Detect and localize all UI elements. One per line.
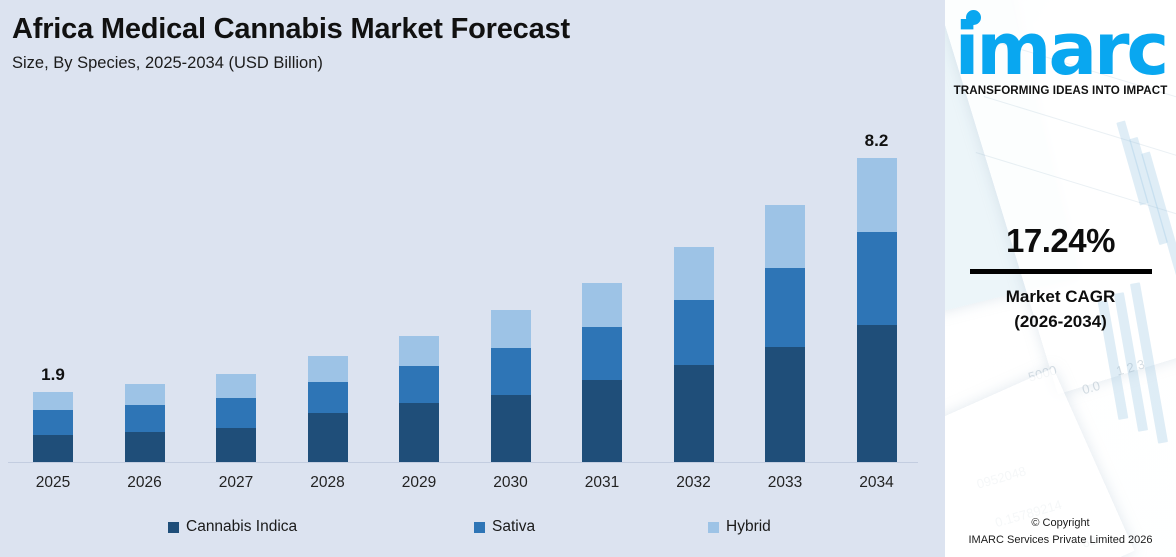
bar-stack-2030 (491, 310, 531, 462)
bar-group-2034[interactable]: 8.2 (857, 158, 897, 462)
imarc-logo[interactable]: imarc TRANSFORMING IDEAS INTO IMPACT (945, 16, 1176, 97)
bar-stack-2033 (765, 205, 805, 462)
bar-segment-cannabis-indica-2034[interactable] (857, 325, 897, 462)
bar-segment-cannabis-indica-2032[interactable] (674, 365, 714, 462)
bar-stack-2029 (399, 336, 439, 462)
bar-segment-cannabis-indica-2031[interactable] (582, 380, 622, 462)
bar-segment-cannabis-indica-2025[interactable] (33, 435, 73, 462)
bar-segment-sativa-2025[interactable] (33, 410, 73, 434)
plot-area: 1.92025202620272028202920302031203220338… (0, 0, 932, 557)
legend-swatch-cannabis-indica (168, 522, 179, 533)
legend-label-hybrid: Hybrid (726, 518, 771, 536)
bar-stack-2025 (33, 392, 73, 462)
bar-segment-cannabis-indica-2026[interactable] (125, 432, 165, 462)
copyright-line-2: IMARC Services Private Limited 2026 (945, 532, 1176, 549)
x-axis-label-2029: 2029 (374, 474, 464, 492)
bar-stack-2026 (125, 384, 165, 462)
bar-group-2032[interactable] (674, 247, 714, 462)
bar-segment-sativa-2031[interactable] (582, 327, 622, 380)
x-axis-label-2027: 2027 (191, 474, 281, 492)
chart-panel: Africa Medical Cannabis Market Forecast … (0, 0, 932, 557)
bar-segment-sativa-2032[interactable] (674, 300, 714, 365)
bar-group-2027[interactable] (216, 374, 256, 462)
copyright-block: © Copyright IMARC Services Private Limit… (945, 515, 1176, 548)
bar-value-label-2034: 8.2 (865, 131, 889, 151)
bar-segment-sativa-2033[interactable] (765, 268, 805, 347)
chart-legend: Cannabis Indica Sativa Hybrid (0, 518, 920, 544)
bar-group-2033[interactable] (765, 205, 805, 462)
bar-segment-sativa-2030[interactable] (491, 348, 531, 395)
brand-panel: 5000 0.0 1 2 3 0952048 0.15789214 68 ima… (932, 0, 1176, 557)
bar-stack-2028 (308, 356, 348, 462)
legend-item-sativa[interactable]: Sativa (474, 518, 535, 536)
cagr-divider (970, 269, 1152, 274)
bar-stack-2034 (857, 158, 897, 462)
bar-segment-hybrid-2026[interactable] (125, 384, 165, 405)
bar-segment-hybrid-2029[interactable] (399, 336, 439, 366)
bar-stack-2032 (674, 247, 714, 462)
legend-item-hybrid[interactable]: Hybrid (708, 518, 771, 536)
bar-segment-cannabis-indica-2027[interactable] (216, 428, 256, 462)
cagr-period: (2026-2034) (945, 310, 1176, 335)
x-axis-line (8, 462, 918, 463)
bar-segment-hybrid-2032[interactable] (674, 247, 714, 300)
cagr-value: 17.24% (945, 222, 1176, 260)
bar-segment-hybrid-2031[interactable] (582, 283, 622, 327)
bar-segment-sativa-2026[interactable] (125, 405, 165, 431)
chart-infographic: Africa Medical Cannabis Market Forecast … (0, 0, 1176, 557)
legend-item-cannabis-indica[interactable]: Cannabis Indica (168, 518, 297, 536)
legend-swatch-hybrid (708, 522, 719, 533)
bar-segment-cannabis-indica-2029[interactable] (399, 403, 439, 462)
imarc-wordmark: imarc (955, 16, 1166, 82)
x-axis-label-2031: 2031 (557, 474, 647, 492)
bar-segment-sativa-2034[interactable] (857, 232, 897, 325)
panel-divider (932, 0, 945, 557)
bar-stack-2027 (216, 374, 256, 462)
bar-value-label-2025: 1.9 (41, 365, 65, 385)
imarc-logo-text: imarc (955, 7, 1166, 91)
bar-group-2026[interactable] (125, 384, 165, 462)
imarc-logo-dot-icon (966, 10, 981, 25)
bar-segment-cannabis-indica-2030[interactable] (491, 395, 531, 462)
bar-segment-cannabis-indica-2028[interactable] (308, 413, 348, 462)
bar-group-2028[interactable] (308, 356, 348, 462)
bar-group-2029[interactable] (399, 336, 439, 462)
bar-segment-sativa-2028[interactable] (308, 382, 348, 413)
cagr-label: Market CAGR (945, 285, 1176, 310)
bar-stack-2031 (582, 283, 622, 462)
bar-segment-hybrid-2033[interactable] (765, 205, 805, 268)
copyright-line-1: © Copyright (945, 515, 1176, 532)
bar-segment-sativa-2029[interactable] (399, 366, 439, 403)
legend-label-sativa: Sativa (492, 518, 535, 536)
x-axis-label-2026: 2026 (100, 474, 190, 492)
bar-segment-cannabis-indica-2033[interactable] (765, 347, 805, 462)
x-axis-label-2034: 2034 (832, 474, 922, 492)
x-axis-label-2028: 2028 (283, 474, 373, 492)
bar-segment-hybrid-2025[interactable] (33, 392, 73, 411)
x-axis-label-2033: 2033 (740, 474, 830, 492)
bar-segment-hybrid-2027[interactable] (216, 374, 256, 398)
x-axis-label-2030: 2030 (466, 474, 556, 492)
legend-label-cannabis-indica: Cannabis Indica (186, 518, 297, 536)
x-axis-label-2025: 2025 (8, 474, 98, 492)
bar-segment-hybrid-2028[interactable] (308, 356, 348, 382)
bar-group-2025[interactable]: 1.9 (33, 392, 73, 462)
bar-segment-hybrid-2030[interactable] (491, 310, 531, 348)
legend-swatch-sativa (474, 522, 485, 533)
x-axis-label-2032: 2032 (649, 474, 739, 492)
cagr-block: 17.24% Market CAGR (2026-2034) (945, 222, 1176, 334)
bar-segment-hybrid-2034[interactable] (857, 158, 897, 232)
bar-segment-sativa-2027[interactable] (216, 398, 256, 427)
bar-group-2031[interactable] (582, 283, 622, 462)
bar-group-2030[interactable] (491, 310, 531, 462)
